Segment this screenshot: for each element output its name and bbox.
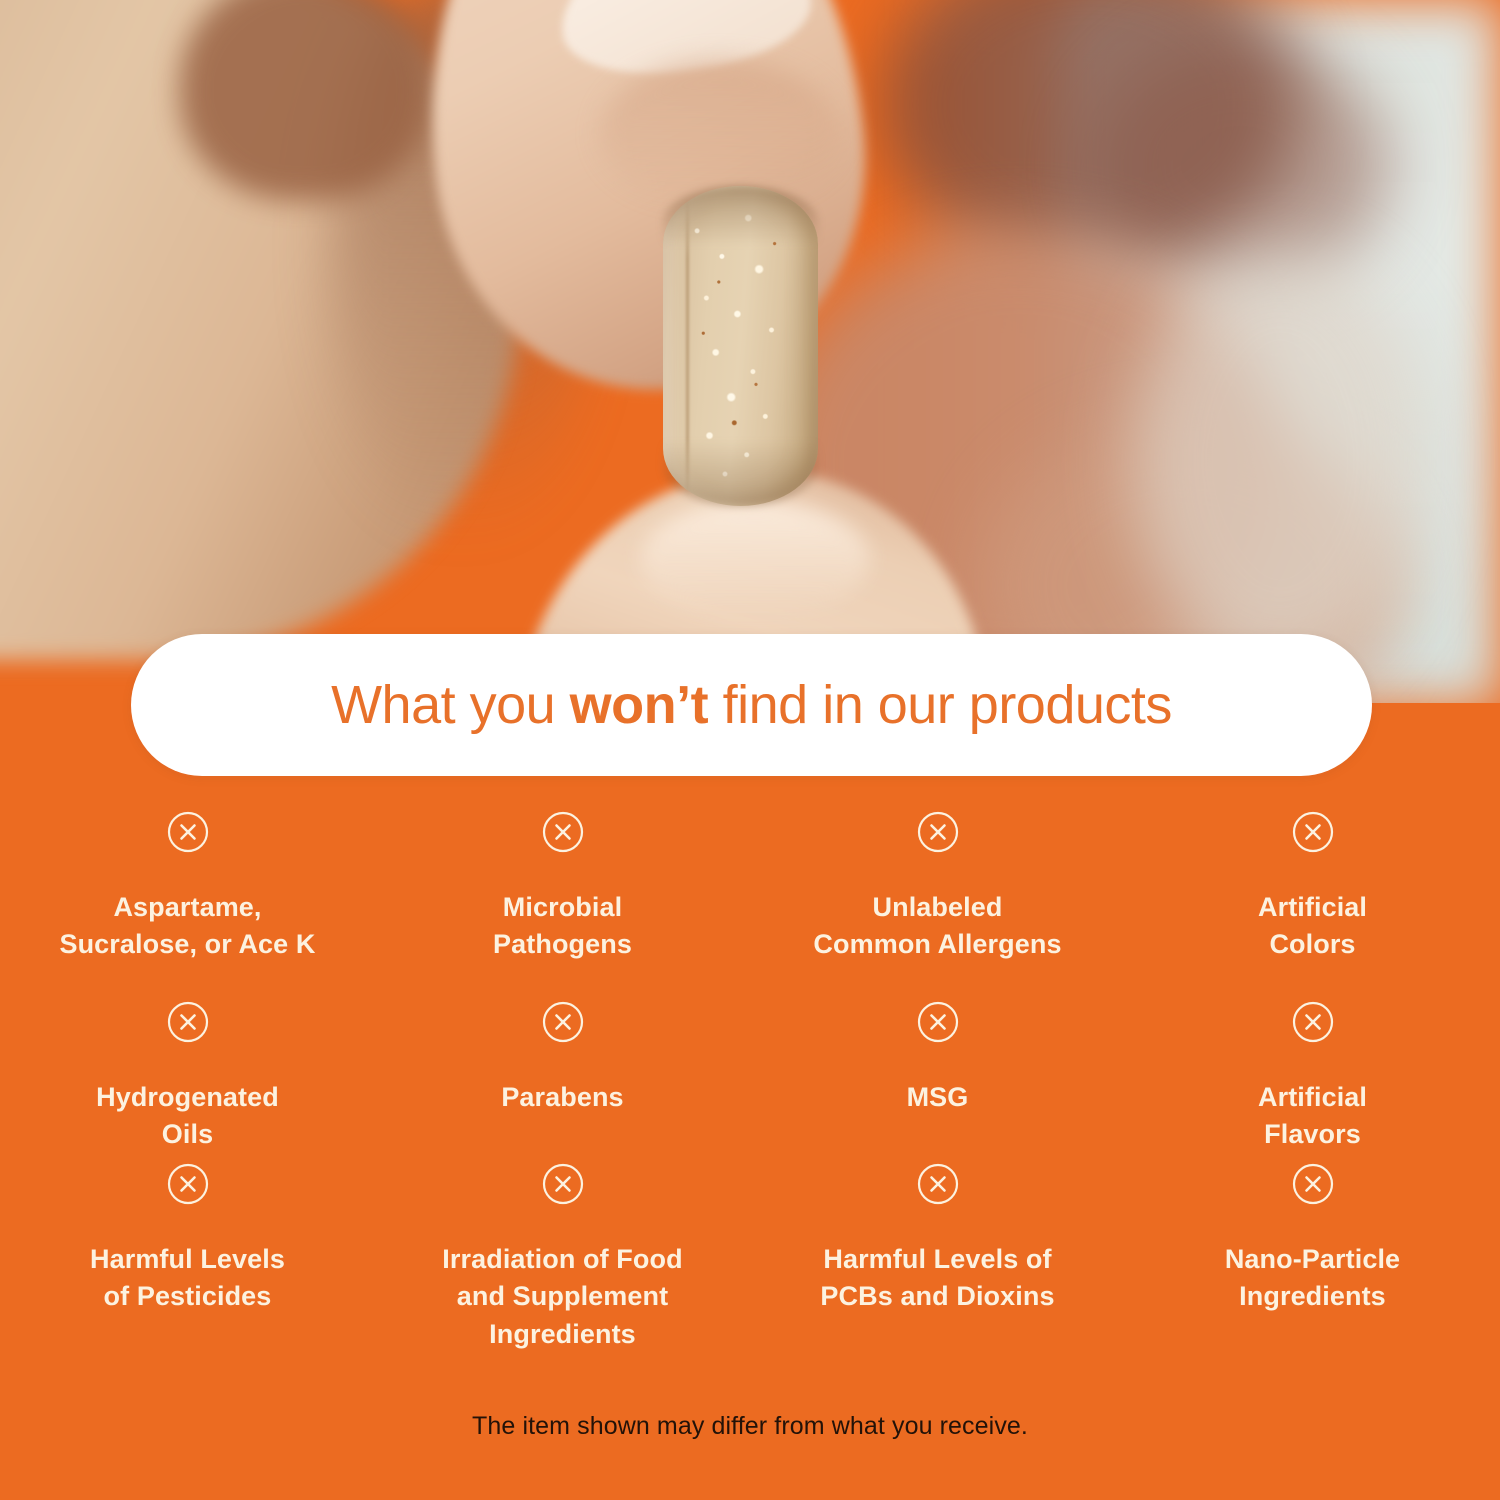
exclusion-item: MSG [750,1000,1125,1154]
exclusion-label: Harmful Levels of Pesticides [90,1241,285,1316]
exclusion-item: Microbial Pathogens [375,810,750,964]
exclusion-label: Aspartame, Sucralose, or Ace K [59,889,315,964]
circle-x-icon [916,1162,960,1211]
exclusion-row-1: Aspartame, Sucralose, or Ace K Microbial… [0,810,1500,964]
page-title: What you won’t find in our products [331,678,1172,732]
exclusion-label: Parabens [501,1079,623,1116]
circle-x-icon [166,1162,210,1211]
exclusion-item: Aspartame, Sucralose, or Ace K [0,810,375,964]
exclusion-item: Artificial Flavors [1125,1000,1500,1154]
exclusion-item: Hydrogenated Oils [0,1000,375,1154]
background-dark-blob-2 [1090,40,1390,290]
exclusion-row-3: Harmful Levels of Pesticides Irradiation… [0,1162,1500,1353]
exclusion-row-2: Hydrogenated Oils Parabens MSG [0,1000,1500,1154]
hand-shadow [180,0,430,200]
circle-x-icon [1291,1162,1335,1211]
exclusion-label: Nano-Particle Ingredients [1225,1241,1400,1316]
exclusion-label: Microbial Pathogens [493,889,632,964]
exclusion-item: Unlabeled Common Allergens [750,810,1125,964]
exclusion-item: Parabens [375,1000,750,1154]
page-title-before: What you [331,675,570,735]
exclusion-item: Harmful Levels of Pesticides [0,1162,375,1353]
disclaimer-text: The item shown may differ from what you … [0,1412,1500,1441]
circle-x-icon [541,1162,585,1211]
page-title-after: find in our products [708,675,1172,735]
background-cream-blob [1130,250,1430,670]
index-finger-highlight [640,500,870,620]
exclusion-item: Nano-Particle Ingredients [1125,1162,1500,1353]
marketing-infographic: What you won’t find in our products Aspa… [0,0,1500,1500]
exclusion-label: MSG [907,1079,969,1116]
circle-x-icon [541,1000,585,1049]
exclusion-label: Artificial Flavors [1258,1079,1367,1154]
exclusion-label: Hydrogenated Oils [96,1079,279,1154]
circle-x-icon [1291,1000,1335,1049]
circle-x-icon [916,1000,960,1049]
exclusion-item: Irradiation of Food and Supplement Ingre… [375,1162,750,1353]
exclusion-item: Harmful Levels of PCBs and Dioxins [750,1162,1125,1353]
exclusion-label: Harmful Levels of PCBs and Dioxins [820,1241,1054,1316]
circle-x-icon [916,810,960,859]
exclusion-label: Artificial Colors [1258,889,1367,964]
page-title-emphasis: won’t [570,675,708,735]
title-pill: What you won’t find in our products [131,634,1372,776]
circle-x-icon [166,1000,210,1049]
circle-x-icon [1291,810,1335,859]
exclusion-label: Unlabeled Common Allergens [813,889,1061,964]
hero-photo [0,0,1500,706]
circle-x-icon [166,810,210,859]
exclusion-item: Artificial Colors [1125,810,1500,964]
circle-x-icon [541,810,585,859]
exclusion-label: Irradiation of Food and Supplement Ingre… [442,1241,682,1353]
